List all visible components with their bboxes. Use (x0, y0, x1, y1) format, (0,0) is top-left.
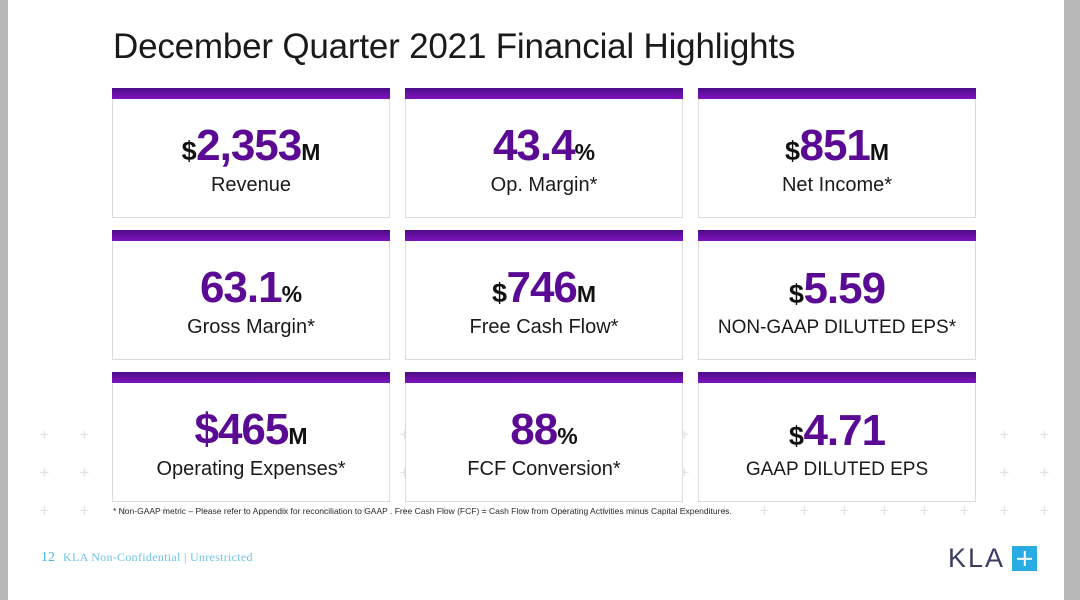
plus-decor-icon: + (78, 466, 91, 479)
metric-card: $2,353MRevenue (112, 88, 390, 218)
metric-label: NON-GAAP DILUTED EPS* (718, 318, 956, 337)
plus-decor-icon: + (1038, 428, 1051, 441)
metric-label: Gross Margin* (187, 317, 315, 337)
metric-number: 43.4 (493, 121, 575, 170)
metric-value: $5.59 (718, 267, 956, 311)
kla-logo: KLA (948, 543, 1037, 574)
metric-card: $5.59NON-GAAP DILUTED EPS* (698, 230, 976, 360)
metric-number: 2,353 (196, 121, 301, 170)
metric-number: 4.71 (803, 406, 885, 455)
metric-unit: M (577, 281, 596, 307)
card-accent-bar (698, 372, 976, 383)
metric-number: 88 (510, 405, 557, 454)
metrics-grid: $2,353MRevenue43.4%Op. Margin*$851MNet I… (112, 88, 976, 502)
metric-value: $4.71 (746, 409, 928, 453)
card-accent-bar (698, 230, 976, 241)
metric-currency-symbol: $ (789, 421, 804, 451)
metric-currency-symbol: $ (182, 136, 197, 166)
metric-currency-symbol: $ (492, 278, 507, 308)
kla-wordmark: KLA (948, 543, 1005, 574)
metric-number: 5.59 (803, 264, 885, 313)
metric-card: $746MFree Cash Flow* (405, 230, 683, 360)
metric-label: GAAP DILUTED EPS (746, 460, 928, 479)
card-content: $465MOperating Expenses* (156, 408, 345, 479)
footnote: * Non-GAAP metric – Please refer to Appe… (113, 506, 732, 516)
metric-number: 746 (506, 263, 576, 312)
metric-label: FCF Conversion* (467, 459, 620, 479)
card-content: $4.71GAAP DILUTED EPS (746, 409, 928, 479)
card-content: 43.4%Op. Margin* (491, 124, 598, 195)
classification-label: KLA Non-Confidential | Unrestricted (63, 550, 253, 565)
metric-unit: M (301, 139, 320, 165)
footer: 12 KLA Non-Confidential | Unrestricted (41, 550, 253, 566)
plus-decor-icon: + (38, 504, 51, 517)
metric-value: 43.4% (491, 124, 598, 168)
card-accent-bar (112, 88, 390, 99)
card-accent-bar (698, 88, 976, 99)
metric-number: 465 (218, 405, 288, 454)
metric-card: $4.71GAAP DILUTED EPS (698, 372, 976, 502)
metric-label: Operating Expenses* (156, 459, 345, 479)
metric-value: $2,353M (182, 124, 321, 168)
plus-decor-icon: + (78, 504, 91, 517)
card-content: $851MNet Income* (782, 124, 892, 195)
plus-decor-icon: + (958, 504, 971, 517)
card-content: $5.59NON-GAAP DILUTED EPS* (718, 267, 956, 337)
plus-decor-icon: + (758, 504, 771, 517)
card-accent-bar (112, 372, 390, 383)
metric-label: Op. Margin* (491, 175, 598, 195)
slide-edge-right (1064, 0, 1072, 600)
page-title: December Quarter 2021 Financial Highligh… (113, 27, 795, 67)
plus-decor-icon: + (78, 428, 91, 441)
metric-number: 63.1 (200, 263, 282, 312)
metric-value: $851M (782, 124, 892, 168)
plus-decor-icon: + (1038, 504, 1051, 517)
plus-decor-icon: + (998, 428, 1011, 441)
metric-card: $465MOperating Expenses* (112, 372, 390, 502)
metric-card: $851MNet Income* (698, 88, 976, 218)
metric-currency-symbol: $ (789, 279, 804, 309)
metric-currency-symbol: $ (785, 136, 800, 166)
plus-decor-icon: + (38, 428, 51, 441)
card-accent-bar (405, 372, 683, 383)
card-accent-bar (405, 230, 683, 241)
page-number: 12 (41, 550, 55, 566)
metric-value: 88% (467, 408, 620, 452)
plus-decor-icon: + (838, 504, 851, 517)
plus-decor-icon: + (38, 466, 51, 479)
card-accent-bar (405, 88, 683, 99)
metric-value: $746M (470, 266, 619, 310)
card-content: $2,353MRevenue (182, 124, 321, 195)
plus-decor-icon: + (1038, 466, 1051, 479)
card-content: 63.1%Gross Margin* (187, 266, 315, 337)
metric-unit: % (575, 139, 595, 165)
metric-unit: % (557, 423, 577, 449)
plus-decor-icon: + (798, 504, 811, 517)
plus-decor-icon: + (918, 504, 931, 517)
metric-value: 63.1% (187, 266, 315, 310)
plus-decor-icon: + (998, 504, 1011, 517)
plus-decor-icon: + (998, 466, 1011, 479)
metric-unit: % (282, 281, 302, 307)
metric-currency-symbol: $ (194, 405, 217, 454)
card-content: $746MFree Cash Flow* (470, 266, 619, 337)
metric-number: 851 (799, 121, 869, 170)
metric-label: Revenue (182, 175, 321, 195)
card-accent-bar (112, 230, 390, 241)
metric-unit: M (870, 139, 889, 165)
metric-card: 63.1%Gross Margin* (112, 230, 390, 360)
plus-icon (1012, 546, 1037, 571)
card-content: 88%FCF Conversion* (467, 408, 620, 479)
metric-label: Free Cash Flow* (470, 317, 619, 337)
slide-canvas: ++++++++++++++++++++++++++++++++++++++++… (8, 0, 1072, 600)
plus-decor-icon: + (878, 504, 891, 517)
metric-card: 43.4%Op. Margin* (405, 88, 683, 218)
metric-value: $465M (156, 408, 345, 452)
metric-card: 88%FCF Conversion* (405, 372, 683, 502)
metric-label: Net Income* (782, 175, 892, 195)
metric-unit: M (288, 423, 307, 449)
